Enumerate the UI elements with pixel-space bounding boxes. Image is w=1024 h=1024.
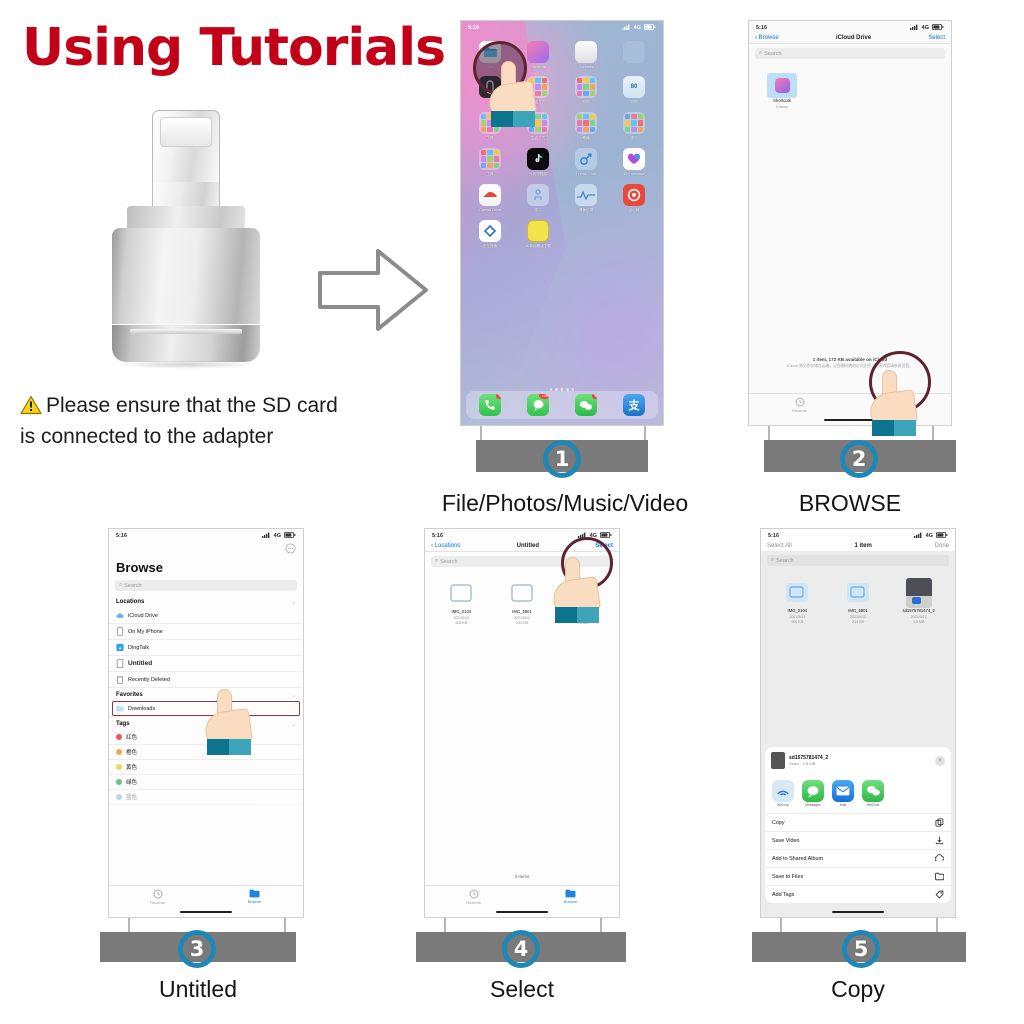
back-label: Locations <box>435 543 461 549</box>
status-network: 4G <box>634 25 641 31</box>
adapter-sd-slot <box>112 324 260 362</box>
step-4-caption: Select <box>424 976 620 1003</box>
section-title: Tags <box>116 721 130 728</box>
chevron-down-icon[interactable]: ⌄ <box>291 599 296 606</box>
folder-meta: 0 items <box>776 105 788 109</box>
app-label: 工具 <box>486 136 493 141</box>
step-number: 3 <box>190 937 205 961</box>
pedestal-leg <box>444 918 446 932</box>
nav-title: iCloud Drive <box>836 35 871 41</box>
tap-hand-icon <box>205 711 251 745</box>
notes-icon <box>527 184 549 206</box>
arrow-right-icon <box>318 245 430 340</box>
file-item[interactable]: IMG_0104 2021/5/12 905 KB <box>776 578 818 624</box>
pedestal-leg <box>932 426 934 440</box>
file-date: 2021/5/12 <box>911 615 927 619</box>
nav-title: Untitled <box>517 543 539 549</box>
step-1-phone: 5:16 4G Files Shortcuts <box>460 20 664 426</box>
status-time: 5:16 <box>432 533 443 539</box>
app-label: 正在搜索 <box>483 244 497 249</box>
step-number: 5 <box>854 937 869 961</box>
badge-count: 6 <box>592 394 597 399</box>
tag-blue-icon <box>116 794 122 800</box>
step-badge-4: 4 <box>502 930 540 968</box>
share-app-wechat[interactable]: WeChat <box>861 780 885 807</box>
phone5-screen: 5:16 4G Select All 1 item Done ⌕ Search <box>760 528 956 918</box>
dock-item-phone[interactable]: 4 <box>477 394 503 416</box>
iphone-icon <box>116 627 124 636</box>
tab-recents[interactable]: Recents <box>425 886 522 907</box>
section-header-favorites: Favorites ⌄ <box>109 688 303 701</box>
section-title: Favorites <box>116 692 143 699</box>
clock-icon <box>469 889 479 899</box>
share-app-label: Messages <box>805 803 820 807</box>
app-icon-contacts[interactable]: Contacts <box>573 41 599 69</box>
app-icon-circle-app[interactable]: 点心网 <box>621 184 647 213</box>
close-icon[interactable]: × <box>935 756 945 766</box>
wechat-icon: 6 <box>575 394 597 416</box>
shortcuts-folder-icon <box>767 73 797 98</box>
file-date: 2021/5/12 <box>514 616 530 620</box>
share-item-thumbnail <box>771 752 785 769</box>
app-label: 4K Translator <box>623 172 644 176</box>
step-2-caption: BROWSE <box>760 490 940 517</box>
item-label: 绿色 <box>126 778 137 786</box>
share-app-mail[interactable]: Mail <box>831 780 855 807</box>
home-indicator <box>496 911 548 914</box>
hand-cuff <box>207 739 251 755</box>
app-folder-6[interactable]: 学习 <box>621 112 647 141</box>
file-name: sd1575781474_2 <box>902 609 934 614</box>
phone-icon: 4 <box>479 394 501 416</box>
tiktok-icon <box>527 148 549 170</box>
file-date: 2021/5/12 <box>453 616 469 620</box>
step-badge-1: 1 <box>543 440 581 478</box>
pedestal-leg <box>284 918 286 932</box>
mail-icon <box>832 780 854 802</box>
circle-app-icon <box>623 184 645 206</box>
folder-icon <box>575 76 597 98</box>
file-name: IMG_0104 <box>788 609 808 614</box>
health-icon <box>575 184 597 206</box>
step-5-caption: Copy <box>760 976 956 1003</box>
hand-cuff <box>555 607 599 623</box>
item-label: iCloud Drive <box>128 613 158 619</box>
list-item-tag-green[interactable]: 绿色 <box>109 775 303 790</box>
messages-icon: 1394 <box>527 394 549 416</box>
phone5-status-bar: 5:16 4G <box>761 529 955 541</box>
file-item[interactable]: IMG_0104 2021/5/12 905 KB <box>440 579 482 625</box>
battery-icon <box>936 532 948 540</box>
dock-item-messages[interactable]: 1394 <box>525 394 551 416</box>
save-video-icon <box>935 836 944 845</box>
folder-name: Shortcuts <box>773 99 791 104</box>
file-generic-icon <box>509 579 535 609</box>
badge-count: 4 <box>496 394 501 399</box>
tab-label: Recents <box>150 900 165 905</box>
share-app-label: WeChat <box>867 803 879 807</box>
clock-icon <box>795 397 805 407</box>
share-action-save-video[interactable]: Save Video <box>765 831 951 849</box>
list-item-on-my-iphone[interactable]: On My iPhone <box>109 624 303 640</box>
phone1-status-bar: 5:16 4G <box>461 21 663 33</box>
item-label: On My iPhone <box>128 629 163 635</box>
status-time: 5:16 <box>756 25 767 31</box>
folder-icon <box>479 148 501 170</box>
list-item-untitled[interactable]: Untitled <box>109 656 303 672</box>
icloud-file-grid: Shortcuts 0 items <box>749 63 951 119</box>
page-heading: Browse <box>109 556 303 576</box>
app-label: Shortcuts <box>530 65 545 69</box>
file-item[interactable]: IMG_5901 2021/5/12 244 KB <box>501 579 543 625</box>
status-time: 5:16 <box>468 25 479 31</box>
pedestal-leg <box>768 426 770 440</box>
pedestal-leg <box>480 426 482 440</box>
file-item[interactable]: IMG_5901 2021/5/12 244 KB <box>837 578 879 624</box>
dock-item-alipay[interactable]: 支 <box>621 394 647 416</box>
battery-icon <box>932 24 944 32</box>
list-item-tag-yellow[interactable]: 黄色 <box>109 760 303 775</box>
step-1-caption: File/Photos/Music/Video <box>400 490 730 517</box>
wechat-icon <box>862 780 884 802</box>
step-badge-2: 2 <box>840 440 878 478</box>
phone4-screen: 5:16 4G ‹ Locations Untitled Select ⌕ Se… <box>424 528 620 918</box>
list-item-icloud-drive[interactable]: iCloud Drive <box>109 608 303 624</box>
placeholder-icon <box>623 41 645 63</box>
action-label: Add to Shared Album <box>772 856 823 862</box>
share-app-label: Mail <box>840 803 846 807</box>
tag-orange-icon <box>116 749 122 755</box>
dingtalk-icon <box>116 643 124 652</box>
folder-icon <box>935 872 944 881</box>
file-name: IMG_0104 <box>452 610 472 615</box>
file-grid: IMG_0104 2021/5/12 905 KB IMG_5901 2021/… <box>761 570 955 632</box>
home-indicator <box>832 911 884 914</box>
translator-icon <box>623 148 645 170</box>
sd-card-warning: Please ensure that the SD card is connec… <box>20 392 390 450</box>
section-header-locations: Locations ⌄ <box>109 595 303 608</box>
file-generic-icon <box>448 579 474 609</box>
adapter-body <box>112 228 260 334</box>
file-size: 244 KB <box>516 621 528 625</box>
step-badge-3: 3 <box>178 930 216 968</box>
step-badge-5: 5 <box>842 930 880 968</box>
app-folder-7[interactable]: 工具 <box>477 148 503 177</box>
phone2-status-bar: 5:16 4G <box>749 21 951 33</box>
tab-label: Browse <box>564 899 577 904</box>
step-number: 2 <box>852 447 867 471</box>
app-icon-diamond[interactable]: 正在搜索 <box>477 220 503 249</box>
app-folder-2[interactable]: 购物 <box>573 76 599 105</box>
share-app-airdrop[interactable]: AirDrop <box>771 780 795 807</box>
back-button[interactable]: ‹ Locations <box>431 543 460 549</box>
file-name: IMG_5901 <box>848 609 868 614</box>
warning-line-1: Please ensure that the SD card <box>46 394 338 417</box>
app-label: 生活方式 <box>531 136 545 141</box>
app-icon-blank-1[interactable] <box>621 41 647 69</box>
app-label: Contacts <box>579 65 593 69</box>
tap-hand-icon <box>553 579 599 613</box>
home-indicator <box>824 419 876 422</box>
phone1-screen: 5:16 4G Files Shortcuts <box>460 20 664 426</box>
adapter-shadow <box>114 360 258 369</box>
app-icon-calculator[interactable]: 80 购物 <box>621 76 647 105</box>
clock-icon <box>153 889 163 899</box>
folder-icon <box>249 889 260 898</box>
search-placeholder: Search <box>124 583 141 589</box>
tab-browse[interactable]: Browse <box>522 886 619 907</box>
icloud-icon <box>116 611 124 620</box>
hand-cuff <box>491 111 535 127</box>
status-time: 5:16 <box>768 533 779 539</box>
app-icon-shortcuts[interactable]: Shortcuts <box>525 41 551 69</box>
done-button[interactable]: Done <box>935 543 949 549</box>
signal-bars-icon <box>914 532 923 540</box>
shared-album-icon <box>935 854 944 863</box>
step-number: 4 <box>514 937 529 961</box>
battery-icon <box>600 532 612 540</box>
app-icon-health[interactable]: 健身记录 <box>573 184 599 213</box>
chevron-down-icon[interactable]: ⌄ <box>291 721 296 728</box>
copy-icon <box>935 818 944 827</box>
battery-icon <box>644 24 656 32</box>
select-button[interactable]: Select <box>928 35 945 41</box>
search-icon: ⌕ <box>435 558 438 565</box>
pedestal-leg <box>644 426 646 440</box>
sdcard-icon <box>116 659 124 668</box>
folder-icon <box>575 112 597 134</box>
list-item-tag-orange[interactable]: 橙色 <box>109 745 303 760</box>
action-label: Copy <box>772 820 785 826</box>
ellipsis-circle-icon <box>285 543 296 554</box>
app-label: 购物 <box>582 100 589 105</box>
diamond-app-icon <box>479 220 501 242</box>
nav-title: 1 item <box>855 543 872 549</box>
app-label: 抖音短视频 <box>529 172 547 177</box>
item-label: 红色 <box>126 733 137 741</box>
share-action-shared-album[interactable]: Add to Shared Album <box>765 849 951 867</box>
app-label: 学习 <box>630 136 637 141</box>
item-label: 蓝色 <box>126 793 137 801</box>
item-label: Recently Deleted <box>128 677 170 683</box>
pedestal-leg <box>936 918 938 932</box>
item-label: 橙色 <box>126 748 137 756</box>
action-label: Save to Files <box>772 874 803 880</box>
share-sheet-header: sd1575781474_2 Video · 1.5 MB × <box>765 747 951 774</box>
search-input[interactable]: ⌕ Search <box>115 580 297 591</box>
list-item-dingtalk[interactable]: DingTalk <box>109 640 303 656</box>
tap-hand-icon <box>489 83 535 117</box>
item-label: Untitled <box>128 660 152 667</box>
share-action-copy[interactable]: Copy <box>765 813 951 831</box>
app-icon-notes[interactable]: 学习 <box>525 184 551 213</box>
item-label: DingTalk <box>128 645 149 651</box>
tag-red-icon <box>116 734 122 740</box>
trash-icon <box>116 675 124 684</box>
home-screen-dock: 4 1394 6 支 <box>466 391 658 419</box>
step-4-phone: 5:16 4G ‹ Locations Untitled Select ⌕ Se… <box>424 528 620 918</box>
warning-line-2: is connected to the adapter <box>20 425 273 448</box>
file-size: 905 KB <box>791 620 803 624</box>
drive-icon <box>479 184 501 206</box>
phone3-status-bar: 5:16 4G <box>109 529 303 541</box>
step-2-phone: 5:16 4G ‹ Browse iCloud Drive Select ⌕ S… <box>748 20 952 426</box>
back-button[interactable]: ‹ Browse <box>755 35 779 41</box>
dock-item-wechat[interactable]: 6 <box>573 394 599 416</box>
app-label: 4K转起超级下载 <box>525 244 551 249</box>
search-input[interactable]: ⌕ Search <box>755 48 945 59</box>
list-item-recently-deleted[interactable]: Recently Deleted <box>109 672 303 688</box>
search-input[interactable]: ⌕ Search <box>767 555 949 566</box>
step-3-phone: 5:16 4G Browse ⌕ Search Locations ⌄ <box>108 528 304 918</box>
utility-icon: 80 <box>623 76 645 98</box>
tab-recents[interactable]: Recents <box>749 394 850 415</box>
status-network: 4G <box>922 25 929 31</box>
folder-item-shortcuts[interactable]: Shortcuts 0 items <box>761 73 803 109</box>
app-folder-5[interactable]: 教育 <box>573 112 599 141</box>
search-icon: ⌕ <box>771 557 774 564</box>
item-count-footer: 3 items <box>425 874 619 879</box>
tag-icon <box>935 890 944 899</box>
search-placeholder: Search <box>764 51 781 57</box>
alipay-icon: 支 <box>623 394 645 416</box>
tab-label: Browse <box>248 899 261 904</box>
app-label: French Club <box>576 172 596 176</box>
share-item-meta: Video · 1.5 MB <box>789 761 828 766</box>
adapter-illustration <box>100 110 300 370</box>
signal-bars-icon <box>622 24 631 32</box>
file-size: 244 KB <box>852 620 864 624</box>
search-icon: ⌕ <box>119 582 122 589</box>
file-size: 1.5 MB <box>913 620 924 624</box>
french-club-icon <box>575 148 597 170</box>
file-size: 905 KB <box>455 621 467 625</box>
airdrop-icon <box>772 780 794 802</box>
tab-browse[interactable]: Browse <box>206 886 303 907</box>
search-icon: ⌕ <box>759 50 762 57</box>
messages-icon <box>802 780 824 802</box>
section-title: Locations <box>116 599 144 606</box>
more-button[interactable] <box>109 541 303 556</box>
app-label: 购物 <box>630 100 637 105</box>
app-icon-blank-2[interactable] <box>573 220 599 249</box>
signal-bars-icon <box>262 532 271 540</box>
tag-yellow-icon <box>116 764 122 770</box>
lightning-connector-tip <box>152 110 220 185</box>
contacts-app-icon <box>575 41 597 63</box>
list-item-tag-blue[interactable]: 蓝色 <box>109 790 303 805</box>
warning-triangle-icon <box>20 395 42 423</box>
file-generic-icon <box>784 578 810 608</box>
app-icon-translator[interactable]: 4K Translator <box>621 148 647 177</box>
app-icon-blank-3[interactable] <box>621 220 647 249</box>
select-all-button[interactable]: Select All <box>767 543 792 549</box>
back-label: Browse <box>759 35 779 41</box>
app-label: 学习 <box>534 208 541 213</box>
share-app-label: AirDrop <box>777 803 789 807</box>
app-icon-yellow[interactable]: 4K转起超级下载 <box>525 220 551 249</box>
share-app-messages[interactable]: Messages <box>801 780 825 807</box>
app-icon-french-club[interactable]: French Club <box>573 148 599 177</box>
tab-label: Recents <box>792 408 807 413</box>
step-5-phone: 5:16 4G Select All 1 item Done ⌕ Search <box>760 528 956 918</box>
status-time: 5:16 <box>116 533 127 539</box>
file-generic-icon <box>845 578 871 608</box>
step-3-caption: Untitled <box>103 976 293 1003</box>
search-placeholder: Search <box>776 558 793 564</box>
app-label: 健身记录 <box>579 208 593 213</box>
signal-bars-icon <box>910 24 919 32</box>
app-label: 工具 <box>486 172 493 177</box>
hand-cuff <box>872 420 916 436</box>
pedestal-leg <box>600 918 602 932</box>
tab-label: Recents <box>466 900 481 905</box>
pedestal-leg <box>780 918 782 932</box>
chevron-down-icon[interactable]: ⌄ <box>291 692 296 699</box>
pedestal-leg <box>128 918 130 932</box>
tag-green-icon <box>116 779 122 785</box>
search-placeholder: Search <box>440 559 457 565</box>
app-label: OpenAI Drive <box>479 208 501 212</box>
tap-hand-icon <box>870 392 916 426</box>
phone2-screen: 5:16 4G ‹ Browse iCloud Drive Select ⌕ S… <box>748 20 952 426</box>
file-name: IMG_5901 <box>512 610 532 615</box>
home-indicator <box>180 911 232 914</box>
tab-recents[interactable]: Recents <box>109 886 206 907</box>
app-label: 点心网 <box>629 208 640 213</box>
phone3-screen: 5:16 4G Browse ⌕ Search Locations ⌄ <box>108 528 304 918</box>
page-title: Using Tutorials <box>22 18 445 78</box>
file-date: 2021/5/12 <box>850 615 866 619</box>
status-network: 4G <box>926 533 933 539</box>
share-sheet: sd1575781474_2 Video · 1.5 MB × AirDrop … <box>765 747 951 903</box>
status-network: 4G <box>274 533 281 539</box>
badge-count: 1394 <box>539 394 549 399</box>
share-action-save-to-files[interactable]: Save to Files <box>765 867 951 885</box>
step-number: 1 <box>555 447 570 471</box>
phone4-tabbar: Recents Browse <box>425 885 619 907</box>
phone3-tabbar: Recents Browse <box>109 885 303 907</box>
battery-icon <box>284 532 296 540</box>
app-icon-tiktok[interactable]: 抖音短视频 <box>525 148 551 177</box>
shortcuts-app-icon <box>527 41 549 63</box>
action-label: Save Video <box>772 838 799 844</box>
phone2-navbar: ‹ Browse iCloud Drive Select <box>749 33 951 44</box>
video-thumb-icon <box>906 578 932 608</box>
phone5-navbar: Select All 1 item Done <box>761 541 955 551</box>
folder-icon <box>565 889 576 898</box>
file-date: 2021/5/12 <box>789 615 805 619</box>
folder-icon <box>623 112 645 134</box>
yellow-app-icon <box>527 220 549 242</box>
action-label: Add Tags <box>772 892 794 898</box>
share-action-add-tags[interactable]: Add Tags <box>765 885 951 903</box>
app-icon-drive[interactable]: OpenAI Drive <box>477 184 503 213</box>
share-apps-row: AirDrop Messages Mail <box>765 774 951 813</box>
app-label: 教育 <box>582 136 589 141</box>
file-item-selected[interactable]: sd1575781474_2 2021/5/12 1.5 MB <box>898 578 940 624</box>
item-label: 黄色 <box>126 763 137 771</box>
